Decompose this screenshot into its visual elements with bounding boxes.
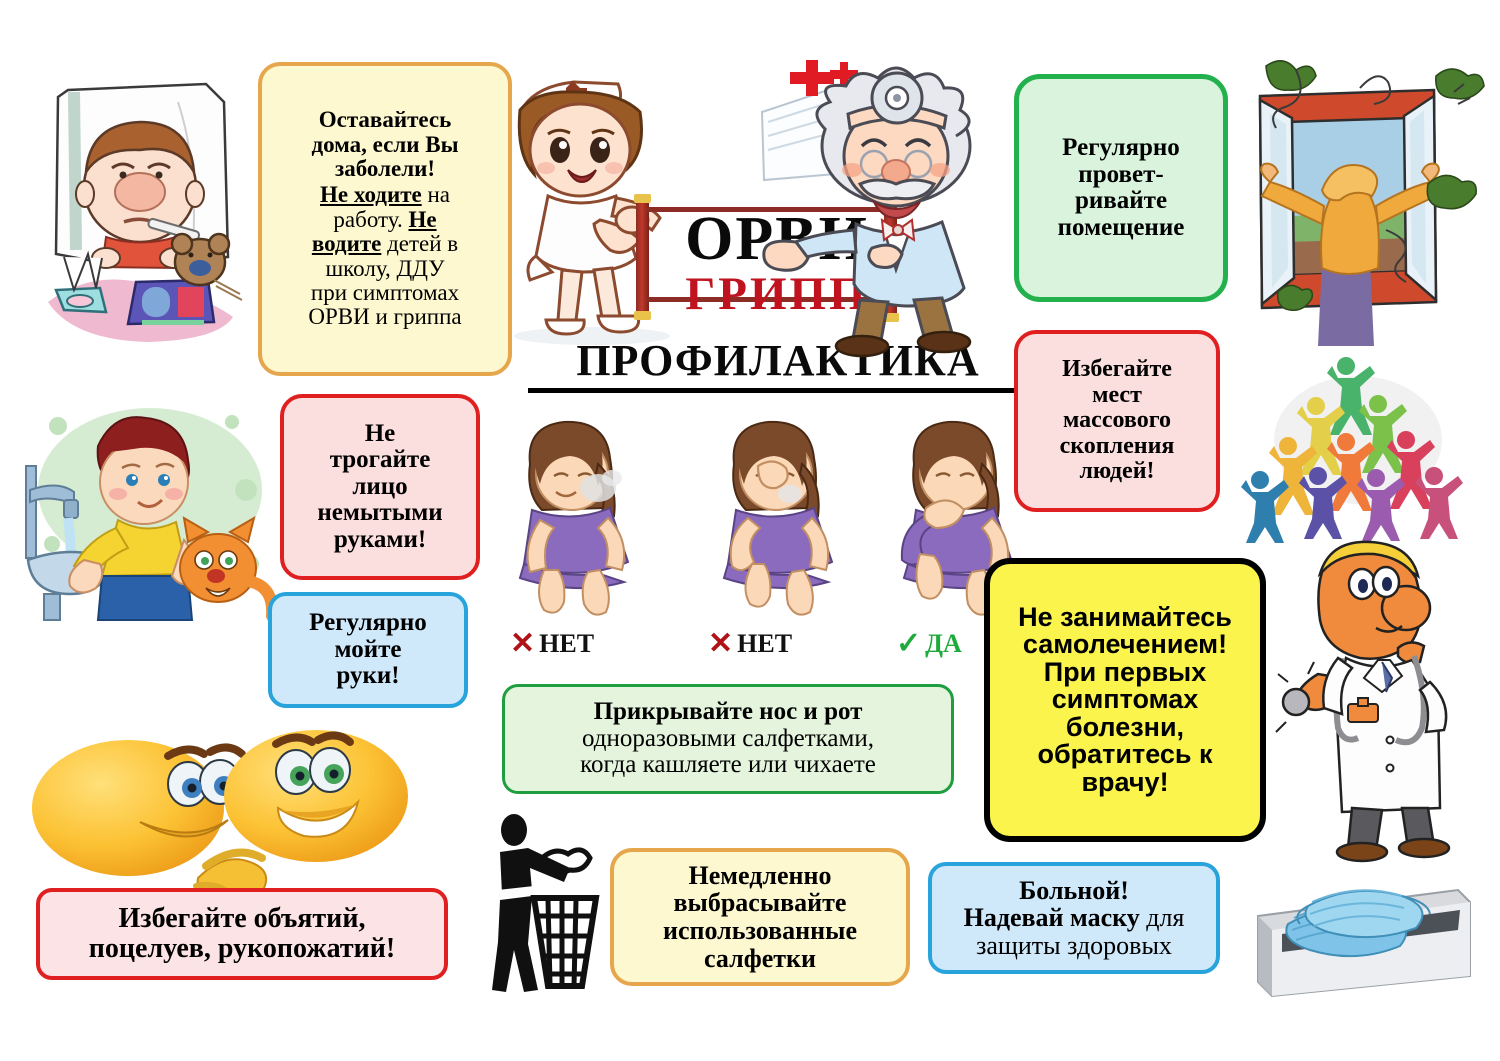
no-self-med-line-2: самолечением! bbox=[998, 631, 1252, 659]
callout-dont-touch-face: Не трогайте лицо немытыми руками! bbox=[280, 394, 480, 580]
stay-home-body-line-1: Не ходите на bbox=[272, 183, 498, 207]
dont-touch-face-line-4: немытыми bbox=[290, 500, 470, 527]
avoid-crowds-line-5: людей! bbox=[1024, 459, 1210, 484]
no-self-med-line-5: болезни, bbox=[998, 714, 1252, 742]
poster-canvas: Оставайтесь дома, если Вы заболели! Не х… bbox=[0, 0, 1500, 1061]
wear-mask-emph: Надевай маску bbox=[964, 903, 1140, 932]
medical-masks-box-illustration bbox=[1248, 872, 1478, 998]
cross-icon: ✕ bbox=[510, 626, 535, 661]
stay-home-body-1-rest: на bbox=[422, 182, 450, 207]
ventilate-line-4: помещение bbox=[1027, 215, 1215, 242]
wear-mask-line-2-rest: для bbox=[1140, 903, 1185, 932]
discard-tissues-line-1: Немедленно bbox=[620, 862, 900, 890]
smileys-handshake-illustration bbox=[28, 722, 358, 908]
cough-label-no-1: ✕ НЕТ bbox=[510, 626, 594, 661]
coughing-girl-into-hand-illustration bbox=[700, 412, 860, 627]
tidy-man-bin-icon bbox=[484, 814, 604, 994]
cough-label-no-2: ✕ НЕТ bbox=[708, 626, 792, 661]
doctor-with-stethoscope-illustration bbox=[1278, 532, 1478, 862]
callout-avoid-crowds: Избегайте мест массового скопления людей… bbox=[1014, 330, 1220, 512]
avoid-crowds-line-1: Избегайте bbox=[1024, 357, 1210, 382]
stay-home-body-line-4: школу, ДДУ bbox=[272, 257, 498, 281]
check-icon: ✓ bbox=[896, 626, 921, 661]
avoid-hugs-line-1: Избегайте объятий, bbox=[46, 904, 438, 934]
callout-cover-nose-mouth: Прикрывайте нос и рот одноразовыми салфе… bbox=[502, 684, 954, 794]
wash-hands-line-2: мойте bbox=[278, 637, 458, 664]
dont-touch-face-line-2: трогайте bbox=[290, 447, 470, 474]
cover-mouth-line-1: Прикрывайте нос и рот bbox=[513, 699, 943, 726]
wear-mask-line-2: Надевай маску для bbox=[938, 904, 1210, 932]
sick-child-in-bed-illustration bbox=[28, 72, 256, 350]
ventilate-line-3: ривайте bbox=[1027, 188, 1215, 215]
coughing-girl-wrong-hand-illustration bbox=[496, 412, 656, 627]
cough-label-yes-text: ДА bbox=[925, 629, 962, 659]
stay-home-emph-1: Не ходите bbox=[320, 182, 422, 207]
no-self-med-line-7: врачу! bbox=[998, 769, 1252, 797]
stay-home-body-line-5: при симптомах bbox=[272, 281, 498, 305]
wash-hands-line-3: руки! bbox=[278, 663, 458, 690]
callout-avoid-hugs: Избегайте объятий, поцелуев, рукопожатий… bbox=[36, 888, 448, 980]
cover-mouth-line-2: одноразовыми салфетками, bbox=[513, 726, 943, 753]
avoid-crowds-line-2: мест bbox=[1024, 383, 1210, 408]
cover-mouth-line-3: когда кашляете или чихаете bbox=[513, 752, 943, 779]
ventilate-line-1: Регулярно bbox=[1027, 135, 1215, 162]
cough-label-no-1-text: НЕТ bbox=[539, 629, 594, 659]
callout-wash-hands: Регулярно мойте руки! bbox=[268, 592, 468, 708]
stay-home-emph-2: Не bbox=[408, 207, 436, 232]
avoid-crowds-line-4: скопления bbox=[1024, 434, 1210, 459]
stay-home-emph-3: водите bbox=[312, 231, 382, 256]
wear-mask-line-3: защиты здоровых bbox=[938, 932, 1210, 960]
dont-touch-face-line-5: руками! bbox=[290, 527, 470, 554]
stay-home-body-line-3: водите детей в bbox=[272, 232, 498, 256]
avoid-crowds-line-3: массового bbox=[1024, 408, 1210, 433]
crowd-of-people-illustration bbox=[1234, 344, 1492, 530]
callout-no-self-medication: Не занимайтесь самолечением! При первых … bbox=[984, 558, 1266, 842]
no-self-med-line-3: При первых bbox=[998, 659, 1252, 687]
callout-discard-tissues: Немедленно выбрасывайте использованные с… bbox=[610, 848, 910, 986]
no-self-med-line-4: симптомах bbox=[998, 686, 1252, 714]
open-window-airing-illustration bbox=[1238, 56, 1488, 346]
avoid-hugs-line-2: поцелуев, рукопожатий! bbox=[46, 934, 438, 964]
doctor-with-banner-illustration bbox=[756, 52, 992, 352]
discard-tissues-line-3: использованные bbox=[620, 917, 900, 945]
no-self-med-line-1: Не занимайтесь bbox=[998, 604, 1252, 632]
ventilate-line-2: провет- bbox=[1027, 162, 1215, 189]
callout-wear-mask: Больной! Надевай маску для защиты здоров… bbox=[928, 862, 1220, 974]
discard-tissues-line-4: салфетки bbox=[620, 945, 900, 973]
stay-home-body-line-2: работу. Не bbox=[272, 208, 498, 232]
wear-mask-line-1: Больной! bbox=[938, 877, 1210, 905]
boy-washing-hands-illustration bbox=[22, 394, 278, 620]
cough-label-no-2-text: НЕТ bbox=[737, 629, 792, 659]
callout-ventilate-room: Регулярно провет- ривайте помещение bbox=[1014, 74, 1228, 302]
no-self-med-line-6: обратитесь к bbox=[998, 741, 1252, 769]
cough-label-yes: ✓ ДА bbox=[896, 626, 962, 661]
stay-home-line-3: заболели! bbox=[272, 157, 498, 181]
stay-home-line-2: дома, если Вы bbox=[272, 133, 498, 157]
stay-home-body-3-rest: детей в bbox=[381, 231, 458, 256]
stay-home-body-2-rest: работу. bbox=[333, 207, 408, 232]
stay-home-line-1: Оставайтесь bbox=[272, 108, 498, 132]
cross-icon: ✕ bbox=[708, 626, 733, 661]
dont-touch-face-line-1: Не bbox=[290, 421, 470, 448]
callout-stay-home: Оставайтесь дома, если Вы заболели! Не х… bbox=[258, 62, 512, 376]
stay-home-body-line-6: ОРВИ и гриппа bbox=[272, 305, 498, 329]
wash-hands-line-1: Регулярно bbox=[278, 610, 458, 637]
discard-tissues-line-2: выбрасывайте bbox=[620, 889, 900, 917]
dont-touch-face-line-3: лицо bbox=[290, 474, 470, 501]
